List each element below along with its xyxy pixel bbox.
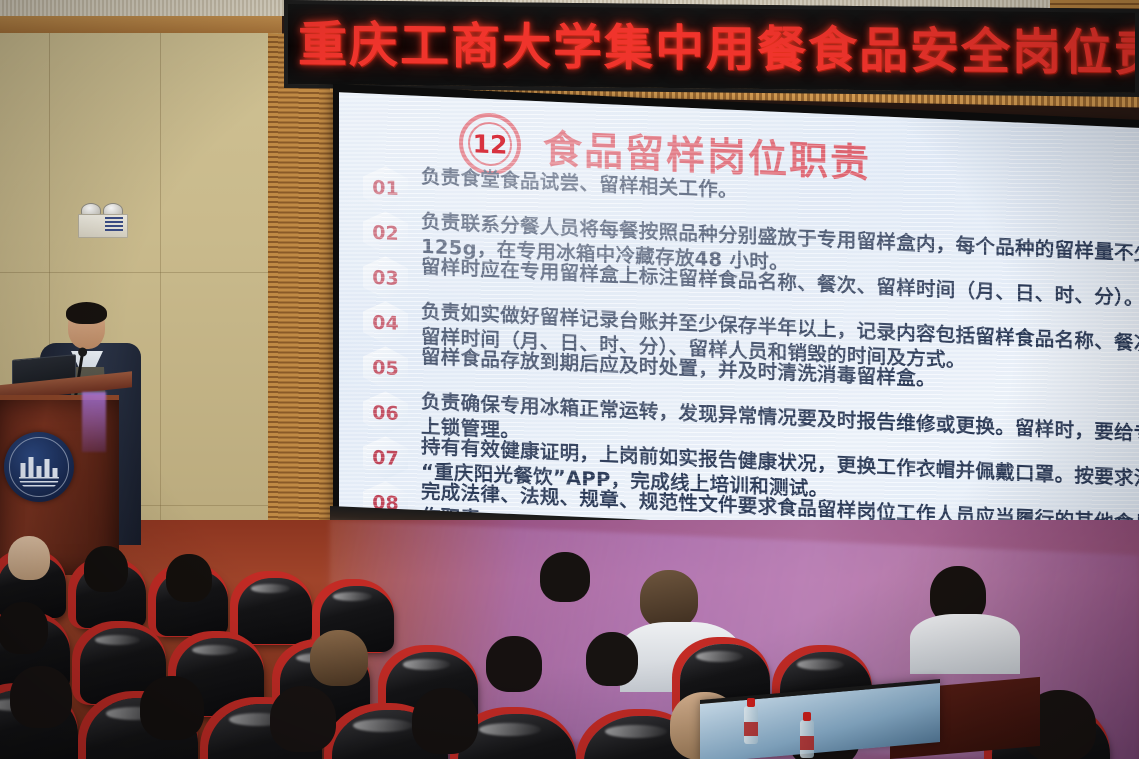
podium-stage-light — [82, 392, 106, 452]
audience-head — [10, 666, 72, 728]
university-emblem — [4, 432, 74, 502]
emergency-light-icon — [78, 203, 126, 236]
water-bottle — [800, 712, 814, 758]
emblem-building-bars — [21, 455, 58, 477]
slide-item-number: 07 — [372, 446, 398, 469]
wall-seam — [160, 33, 161, 561]
audience-head — [412, 688, 478, 754]
audience-head — [640, 570, 698, 628]
audience-shoulders — [910, 614, 1020, 674]
audience-head — [0, 602, 48, 654]
audience-head — [586, 632, 638, 686]
audience-head — [84, 546, 128, 592]
slide-item-number: 02 — [372, 221, 398, 244]
event-banner: 重庆工商大学集中用餐食品安全岗位责任 — [284, 0, 1139, 96]
audience-head — [270, 686, 336, 752]
emergency-light-label — [105, 217, 123, 231]
slide-item-number: 06 — [372, 401, 398, 424]
slide-surface: 12 食品留样岗位职责 01 负责食堂食品试尝、留样相关工作。 02 — [339, 92, 1139, 566]
slide-item-badge: 03 — [363, 255, 410, 302]
audience-head — [310, 630, 368, 686]
slide-item-number: 05 — [372, 356, 398, 379]
slide-item-badge: 06 — [363, 390, 410, 437]
audience-head — [166, 554, 212, 602]
projection-screen: 12 食品留样岗位职责 01 负责食堂食品试尝、留样相关工作。 02 — [333, 84, 1139, 572]
slide-item-badge: 07 — [363, 435, 410, 482]
slide-item-badge: 04 — [363, 300, 410, 347]
slide-item-list: 01 负责食堂食品试尝、留样相关工作。 02 负责联系分餐人员将每餐按照品种分别… — [363, 165, 1139, 560]
audience-head — [8, 536, 50, 580]
speaker-hair — [66, 302, 107, 324]
slide-item-badge: 01 — [363, 165, 410, 212]
auditorium-photo: 重庆工商大学集中用餐食品安全岗位责任 12 食品留样岗位职责 01 负责食堂食品… — [0, 0, 1139, 759]
seat — [238, 578, 312, 644]
slide-item-badge: 02 — [363, 210, 410, 257]
slide-item-number: 04 — [372, 311, 398, 334]
slide-item-number: 01 — [372, 176, 398, 199]
emblem-wave-lines — [19, 477, 59, 489]
wall-top-trim — [0, 16, 282, 33]
slide-item-badge: 05 — [363, 345, 410, 392]
audience-head — [540, 552, 590, 602]
slide-item-number: 03 — [372, 266, 398, 289]
slide-number-text: 12 — [473, 129, 508, 160]
audience-head — [486, 636, 542, 692]
wall-seam — [0, 272, 282, 273]
audience-head — [140, 676, 204, 740]
water-bottle — [744, 698, 758, 744]
event-banner-text: 重庆工商大学集中用餐食品安全岗位责任 — [298, 5, 1139, 86]
